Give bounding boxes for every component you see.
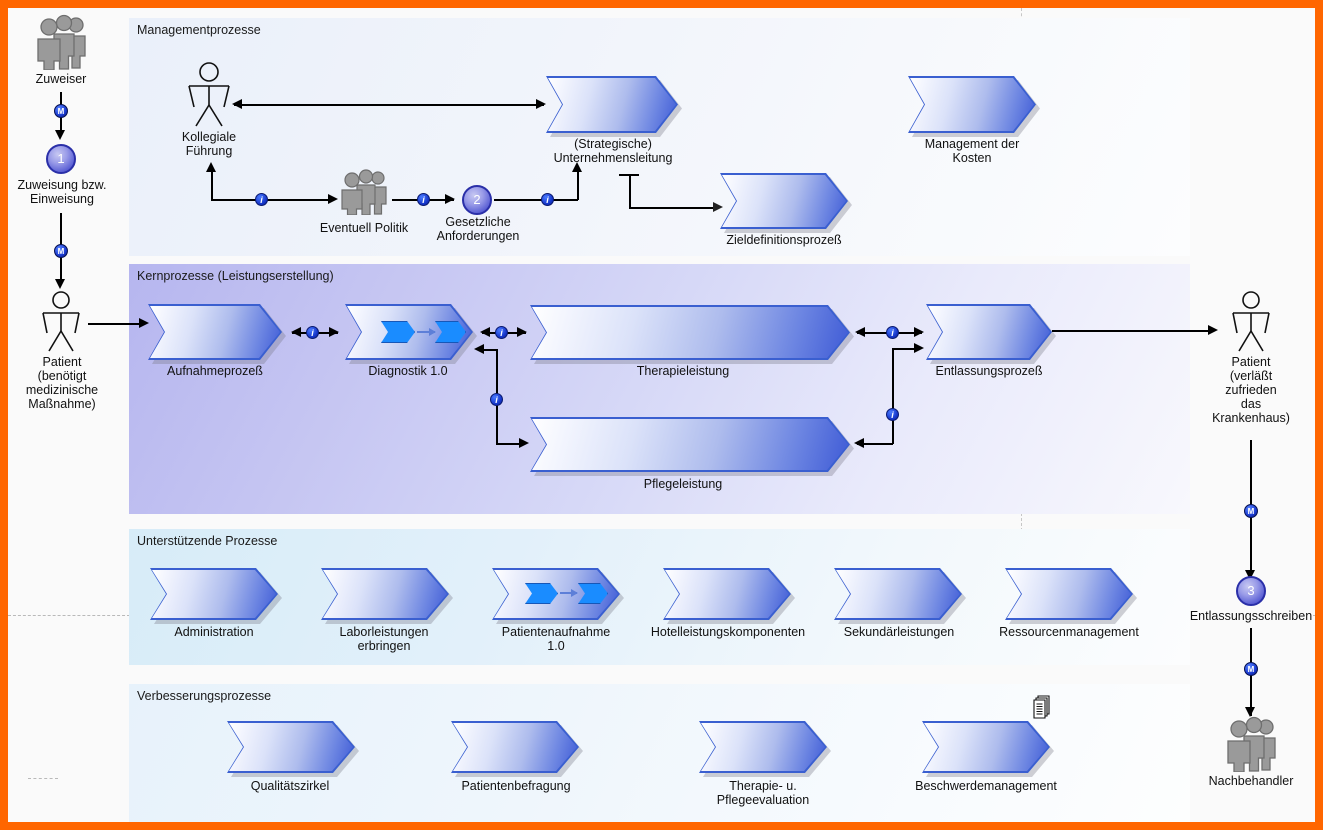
fill <box>924 723 1048 771</box>
label-patient-in: Patient (benötigt medizinische Maßnahme) <box>8 355 116 411</box>
person-stick-icon-kollegiale-fuehrung <box>183 62 235 133</box>
label-laborleistungen: Laborleistungen erbringen <box>313 625 455 653</box>
people-group-icon-nachbehandler <box>1220 716 1282 777</box>
label-gesetzliche-anforderungen: Gesetzliche Anforderungen <box>423 215 533 243</box>
process-qualitaetszirkel[interactable] <box>227 721 355 773</box>
circle-zuweisung[interactable]: 1 <box>46 144 76 174</box>
guide-line-horizontal-left <box>8 615 130 616</box>
connector-patient-to-aufnahme <box>88 323 143 325</box>
arrowhead-right-pflege <box>519 438 529 448</box>
circle-gesetzliche-anforderungen[interactable]: 2 <box>462 185 492 215</box>
process-administration[interactable] <box>150 568 278 620</box>
fill <box>836 570 960 618</box>
label-patientenbefragung: Patientenbefragung <box>441 779 591 793</box>
process-therapie-pflegeevaluation[interactable] <box>699 721 827 773</box>
badge-m-1: M <box>54 104 68 118</box>
label-zuweisung: Zuweisung bzw. Einweisung <box>8 178 116 206</box>
label-administration: Administration <box>143 625 285 639</box>
arrowhead-right-aufnahme-diag <box>329 327 339 337</box>
label-entlassungsschreiben: Entlassungsschreiben <box>1166 609 1315 623</box>
person-stick-icon-patient-out <box>1227 291 1275 358</box>
connector-gesetzliche-unternehmensleitung-vert <box>577 170 579 200</box>
label-hotelleistungskomponenten: Hotelleistungskomponenten <box>638 625 818 639</box>
process-laborleistungen[interactable] <box>321 568 449 620</box>
arrowhead-left-therapie-entl <box>855 327 865 337</box>
label-diagnostik: Diagnostik 1.0 <box>338 364 478 378</box>
band-title-unterstuetzende: Unterstützende Prozesse <box>137 534 277 548</box>
arrowhead-right-therapie-entl <box>914 327 924 337</box>
arrowhead-up-fuehrung <box>206 162 216 172</box>
fill <box>323 570 447 618</box>
connector-fuehrung-elbow-horz <box>211 199 331 201</box>
label-entlassungsprozess: Entlassungsprozeß <box>918 364 1060 378</box>
label-zuweiser: Zuweiser <box>11 72 111 86</box>
label-management-der-kosten: Management der Kosten <box>898 137 1046 165</box>
badge-m-4: M <box>1244 662 1258 676</box>
fill <box>665 570 789 618</box>
badge-i-therapie-entlassung: i <box>886 326 899 339</box>
circle-entlassungsschreiben[interactable]: 3 <box>1236 576 1266 606</box>
arrowhead-right-politik <box>328 194 338 204</box>
arrowhead-left-pflege-out <box>854 438 864 448</box>
arrowhead-left-fuehrung <box>232 99 242 109</box>
badge-m-2: M <box>54 244 68 258</box>
process-management-der-kosten[interactable] <box>908 76 1036 133</box>
fill <box>548 78 676 131</box>
label-beschwerdemanagement: Beschwerdemanagement <box>898 779 1074 793</box>
arrowhead-left-aufnahme-diag <box>291 327 301 337</box>
process-hotelleistungskomponenten[interactable] <box>663 568 791 620</box>
connector-entlassung-patient-out <box>1052 330 1212 332</box>
badge-i-diagnostik-therapie: i <box>495 326 508 339</box>
label-patientenaufnahme: Patientenaufnahme 1.0 <box>484 625 628 653</box>
process-patientenbefragung[interactable] <box>451 721 579 773</box>
arrowhead-right-gesetzliche <box>445 194 455 204</box>
connector-zieldef-horz <box>629 207 717 209</box>
arrowhead-right-entlassung-2 <box>914 343 924 353</box>
badge-i-unternehmensleitung-in: i <box>541 193 554 206</box>
fill <box>910 78 1034 131</box>
band-title-kern: Kernprozesse (Leistungserstellung) <box>137 269 334 283</box>
label-nachbehandler: Nachbehandler <box>1193 774 1309 788</box>
fill <box>150 306 280 358</box>
guide-line-horizontal-bottom <box>28 778 58 779</box>
label-eventuell-politik: Eventuell Politik <box>308 221 420 235</box>
connector-pflege-entlassung-vert <box>892 348 894 444</box>
connector-pflege-entlassung-top <box>892 348 916 350</box>
process-therapieleistung[interactable] <box>530 305 850 360</box>
label-aufnahmeprozess: Aufnahmeprozeß <box>143 364 287 378</box>
badge-i-gesetzliche-in: i <box>417 193 430 206</box>
label-pflegeleistung: Pflegeleistung <box>613 477 753 491</box>
badge-i-pflege-entlassung: i <box>886 408 899 421</box>
label-patient-out: Patient (verläßt zufrieden das Krankenha… <box>1193 355 1309 425</box>
label-unternehmensleitung: (Strategische) Unternehmensleitung <box>528 137 698 165</box>
connector-fuehrung-unternehmensleitung <box>234 104 544 106</box>
person-stick-icon-patient-in <box>37 291 85 358</box>
process-patientenaufnahme[interactable] <box>492 568 620 620</box>
arrowhead-right-patient-out <box>1208 325 1218 335</box>
label-qualitaetszirkel: Qualitätszirkel <box>218 779 362 793</box>
connector-gesetzliche-unternehmensleitung-horz <box>494 199 578 201</box>
process-aufnahmeprozess[interactable] <box>148 304 282 360</box>
document-stack-icon-beschwerdemanagement <box>1031 694 1055 725</box>
fill <box>229 723 353 771</box>
fill <box>152 570 276 618</box>
process-beschwerdemanagement[interactable] <box>922 721 1050 773</box>
badge-m-3: M <box>1244 504 1258 518</box>
people-group-icon-zuweiser <box>30 14 92 75</box>
label-kollegiale-fuehrung: Kollegiale Führung <box>158 130 260 158</box>
subprocess-mini-link <box>560 592 577 594</box>
fill <box>532 419 848 470</box>
fill <box>701 723 825 771</box>
arrowhead-right-unternehmensleitung <box>536 99 546 109</box>
fill <box>722 175 846 227</box>
fill <box>928 306 1050 358</box>
arrowhead-left-diag-therapie <box>480 327 490 337</box>
badge-i-aufnahme-diagnostik: i <box>306 326 319 339</box>
process-zieldefinitionsprozess[interactable] <box>720 173 848 229</box>
arrowhead-down-2 <box>55 279 65 289</box>
connector-fuehrung-elbow-vert <box>211 170 213 200</box>
badge-i-politik-in: i <box>255 193 268 206</box>
fill <box>453 723 577 771</box>
fill <box>532 307 848 358</box>
band-title-management: Managementprozesse <box>137 23 261 37</box>
label-therapieleistung: Therapieleistung <box>608 364 758 378</box>
process-diagnostik[interactable] <box>345 304 473 360</box>
label-sekundaerleistungen: Sekundärleistungen <box>823 625 975 639</box>
label-ressourcenmanagement: Ressourcenmanagement <box>983 625 1155 639</box>
arrowhead-down-1 <box>55 130 65 140</box>
process-sekundaerleistungen[interactable] <box>834 568 962 620</box>
subprocess-mini-link <box>417 331 435 333</box>
badge-i-diagnostik-pflege: i <box>490 393 503 406</box>
process-pflegeleistung[interactable] <box>530 417 850 472</box>
label-therapie-pflegeevaluation: Therapie- u. Pflegeevaluation <box>691 779 835 807</box>
process-entlassungsprozess[interactable] <box>926 304 1052 360</box>
band-title-verbesserung: Verbesserungsprozesse <box>137 689 271 703</box>
connector-zieldef-vert <box>629 174 631 208</box>
arrowhead-left-pflege-feedback <box>474 344 484 354</box>
process-ressourcenmanagement[interactable] <box>1005 568 1133 620</box>
process-unternehmensleitung[interactable] <box>546 76 678 133</box>
label-zieldefinitionsprozess: Zieldefinitionsprozeß <box>708 233 860 247</box>
arrowhead-right-diag-therapie <box>517 327 527 337</box>
people-group-icon-politik <box>334 169 392 220</box>
diagram-canvas: Managementprozesse Kernprozesse (Leistun… <box>8 8 1315 822</box>
fill <box>1007 570 1131 618</box>
